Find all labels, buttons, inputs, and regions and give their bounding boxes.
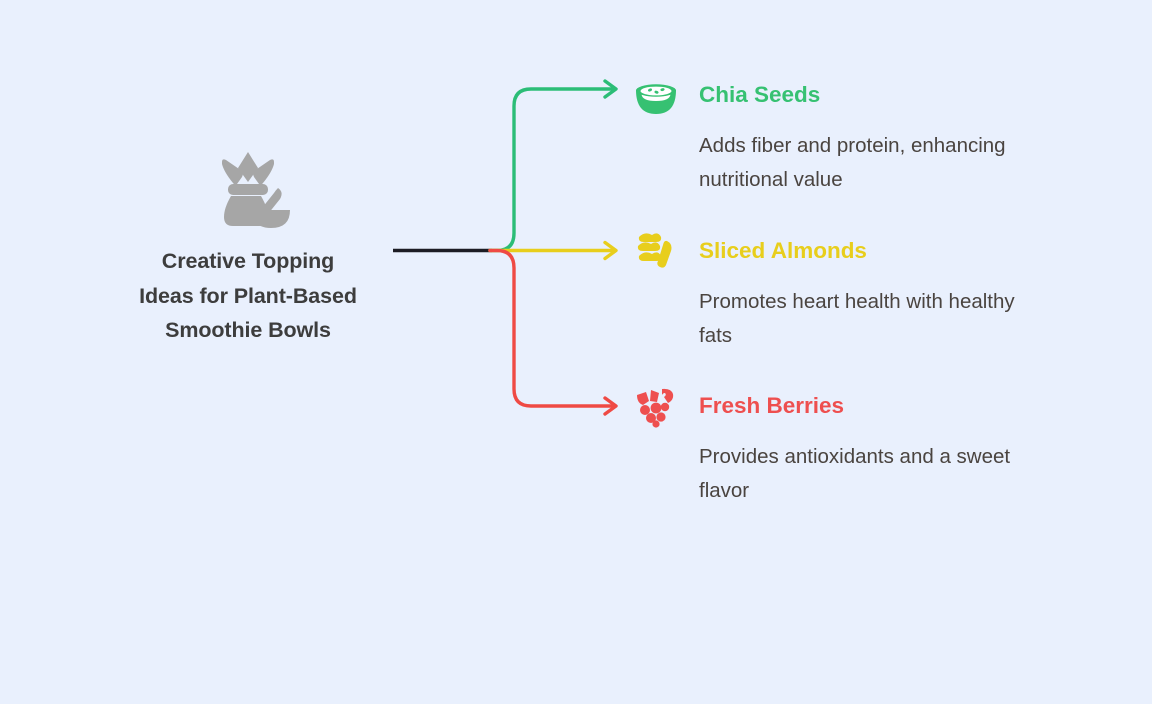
diagram-canvas: Creative Topping Ideas for Plant-Based S… — [0, 0, 1152, 704]
branch-fresh-berries[interactable]: Fresh Berries Provides antioxidants and … — [632, 382, 1029, 508]
arrowhead-chia-seeds — [605, 81, 616, 97]
connector-chia-seeds — [490, 89, 612, 251]
root-title: Creative Topping Ideas for Plant-Based S… — [98, 244, 398, 348]
branch-chia-seeds-description: Adds fiber and protein, enhancing nutrit… — [699, 129, 1029, 197]
branch-fresh-berries-header: Fresh Berries — [632, 382, 1029, 430]
branch-chia-seeds-header: Chia Seeds — [632, 71, 1029, 119]
root-title-line-1: Creative Topping — [98, 244, 398, 279]
branch-chia-seeds-label: Chia Seeds — [699, 84, 820, 107]
branch-sliced-almonds-label: Sliced Almonds — [699, 240, 867, 263]
branch-sliced-almonds[interactable]: Sliced Almonds Promotes heart health wit… — [632, 227, 1029, 353]
mortar-and-pestle-plant-icon — [98, 138, 398, 230]
connector-fresh-berries — [490, 251, 612, 407]
branch-fresh-berries-description: Provides antioxidants and a sweet flavor — [699, 440, 1029, 508]
root-node: Creative Topping Ideas for Plant-Based S… — [98, 138, 398, 348]
bowl-of-seeds-icon — [632, 71, 680, 119]
arrowhead-fresh-berries — [605, 398, 616, 414]
almond-slices-icon — [632, 227, 680, 275]
root-title-line-3: Smoothie Bowls — [98, 313, 398, 348]
arrowhead-sliced-almonds — [605, 243, 616, 259]
branch-sliced-almonds-header: Sliced Almonds — [632, 227, 1029, 275]
root-title-line-2: Ideas for Plant-Based — [98, 279, 398, 314]
berry-cluster-icon — [632, 382, 680, 430]
branch-chia-seeds[interactable]: Chia Seeds Adds fiber and protein, enhan… — [632, 71, 1029, 197]
branch-fresh-berries-label: Fresh Berries — [699, 395, 844, 418]
branch-sliced-almonds-description: Promotes heart health with healthy fats — [699, 285, 1029, 353]
